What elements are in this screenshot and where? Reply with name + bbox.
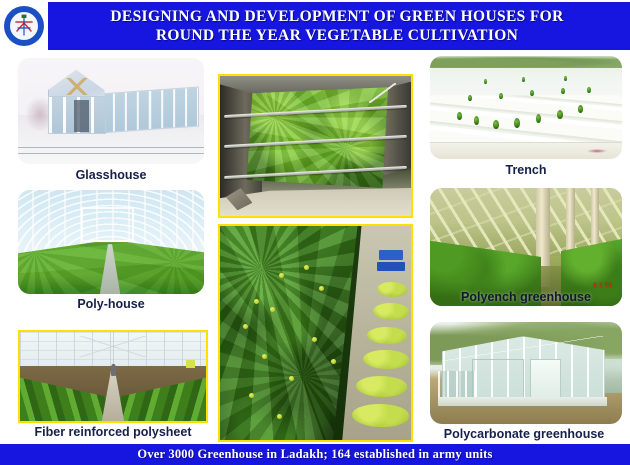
caption-polycarbonate-greenhouse: Polycarbonate greenhouse	[418, 427, 630, 441]
fiber-polysheet-illustration	[20, 332, 206, 421]
photo-fiber-reinforced-polysheet	[18, 330, 208, 423]
page-title-line-2: ROUND THE YEAR VEGETABLE CULTIVATION	[156, 26, 518, 45]
photo-polycarbonate-greenhouse	[430, 322, 622, 424]
center-trench-beds-illustration	[220, 76, 411, 216]
photo-center-tomato-canopy	[218, 224, 413, 442]
caption-poly-house: Poly-house	[18, 297, 204, 311]
footer-banner: Over 3000 Greenhouse in Ladakh; 164 esta…	[0, 444, 630, 465]
caption-polyench-greenhouse: Polyench greenhouse	[430, 290, 622, 304]
trench-illustration	[430, 56, 622, 159]
center-tomato-canopy-illustration	[220, 226, 411, 440]
page-title-line-1: DESIGNING AND DEVELOPMENT OF GREEN HOUSE…	[110, 7, 563, 26]
caption-fiber-reinforced-polysheet: Fiber reinforced polysheet	[8, 425, 218, 439]
photo-center-trench-beds	[218, 74, 413, 218]
photo-date-stamp: 6 1 05	[593, 283, 612, 289]
polycarbonate-greenhouse-illustration	[430, 322, 622, 424]
footer-summary-text: Over 3000 Greenhouse in Ladakh; 164 esta…	[137, 447, 492, 462]
poly-house-illustration	[18, 190, 204, 294]
drdo-emblem-logo	[3, 5, 45, 47]
glasshouse-illustration	[18, 58, 204, 164]
photo-glasshouse	[18, 58, 204, 164]
photo-polyench-greenhouse: 6 1 05	[430, 188, 622, 306]
photo-poly-house	[18, 190, 204, 294]
caption-glasshouse: Glasshouse	[18, 168, 204, 182]
photo-trench	[430, 56, 622, 159]
polyench-greenhouse-illustration: 6 1 05	[430, 188, 622, 306]
page-title: DESIGNING AND DEVELOPMENT OF GREEN HOUSE…	[52, 4, 622, 48]
slide-canvas: DESIGNING AND DEVELOPMENT OF GREEN HOUSE…	[0, 0, 630, 465]
caption-trench: Trench	[430, 163, 622, 177]
